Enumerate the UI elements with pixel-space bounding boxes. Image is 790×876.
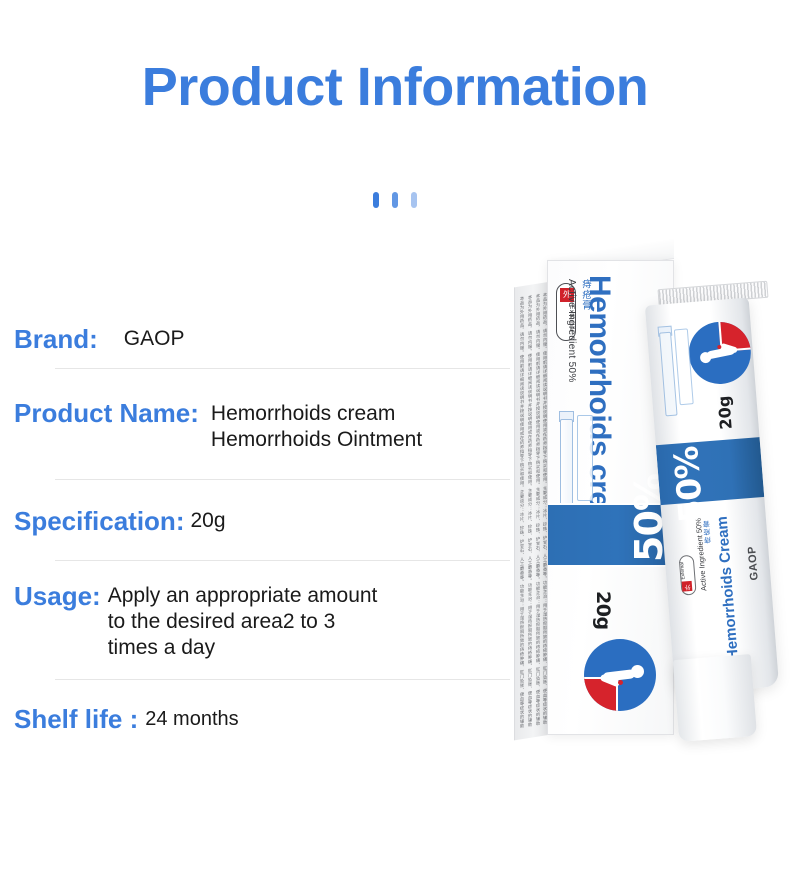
- spec-value-line: Apply an appropriate amount: [108, 583, 378, 609]
- carton-active-ingredient: Active Ingredient 50%: [566, 279, 577, 383]
- tube-percent-band: 50%: [656, 437, 764, 505]
- spec-value-line: Hemorrhoids cream: [211, 401, 422, 427]
- product-tube: 20g 50% Hemorrhoids Cream 痔疮膏 Active Ing…: [650, 285, 776, 743]
- spec-label-product-name: Product Name:: [14, 397, 199, 429]
- dot-3-icon: [411, 192, 417, 208]
- spec-label-shelf-life: Shelf life :: [14, 702, 138, 736]
- illustration-box: [577, 415, 593, 501]
- spec-value-line: 20g: [190, 504, 225, 538]
- spec-value-brand: GAOP: [98, 322, 185, 356]
- tube-external-badge: 外 External: [679, 555, 697, 596]
- tube-body: 20g 50% Hemorrhoids Cream 痔疮膏 Active Ing…: [645, 298, 779, 695]
- dot-1-icon: [373, 192, 379, 208]
- spec-label-specification: Specification:: [14, 504, 184, 538]
- spec-value-specification: 20g: [184, 504, 225, 538]
- spec-value-product-name: Hemorrhoids cream Hemorrhoids Ointment: [199, 397, 422, 453]
- carton-title-cn: 痔疮膏: [578, 279, 592, 311]
- spec-value-line: 24 months: [145, 702, 238, 736]
- spec-value-shelf-life: 24 months: [138, 702, 238, 736]
- carton-side-text: 本品为外用药品，请勿内服。使用前请详细阅读说明书并按说明使用或在药师指导下购买和…: [519, 295, 526, 729]
- external-badge-cn: 外: [682, 581, 693, 592]
- tube-brand: GAOP: [746, 546, 761, 581]
- carton-side-text: 本品为外用药品，请勿内服。使用前请详细阅读说明书并按说明使用或在药师指导下购买和…: [527, 294, 534, 728]
- external-badge-label: External: [680, 561, 692, 579]
- page-title: Product Information: [0, 58, 790, 117]
- tube-illustration: [649, 324, 699, 431]
- tube-cap: [673, 654, 757, 742]
- tube-product-name: Hemorrhoids Cream: [714, 516, 742, 661]
- spec-value-line: to the desired area2 to 3: [108, 609, 378, 635]
- carton-side-panel: 本品为外用药品，请勿内服。使用前请详细阅读说明书并按说明使用或在药师指导下购买和…: [514, 282, 548, 740]
- tube-percent-text: 50%: [666, 445, 711, 524]
- spec-label-brand: Brand:: [14, 322, 98, 356]
- logo-figure-dot: [618, 680, 623, 685]
- logo-figure-head: [700, 352, 712, 364]
- carton-side-text: 本品为外用药品，请勿内服。使用前请详细阅读说明书并按说明使用或在药师指导下购买和…: [535, 293, 542, 727]
- spec-value-line: times a day: [108, 635, 378, 661]
- spec-value-line: Hemorrhoids Ointment: [211, 427, 422, 453]
- illustration-tube: [560, 419, 573, 515]
- spec-label-usage: Usage:: [14, 581, 101, 611]
- spec-value-usage: Apply an appropriate amount to the desir…: [101, 581, 378, 661]
- product-photo: 本品为外用药品，请勿内服。使用前请详细阅读说明书并按说明使用或在药师指导下购买和…: [500, 245, 790, 755]
- logo-figure-head: [631, 665, 644, 678]
- spec-value-line: GAOP: [124, 322, 185, 356]
- product-logo-icon: [584, 639, 656, 711]
- decorative-dots: [0, 192, 790, 208]
- product-information-page: Product Information Brand: GAOP Product …: [0, 0, 790, 876]
- illustration-box: [674, 328, 694, 405]
- tube-logo-icon: [686, 320, 753, 387]
- carton-net-weight: 20g: [592, 591, 614, 630]
- tube-net-weight: 20g: [714, 395, 736, 430]
- dot-2-icon: [392, 192, 398, 208]
